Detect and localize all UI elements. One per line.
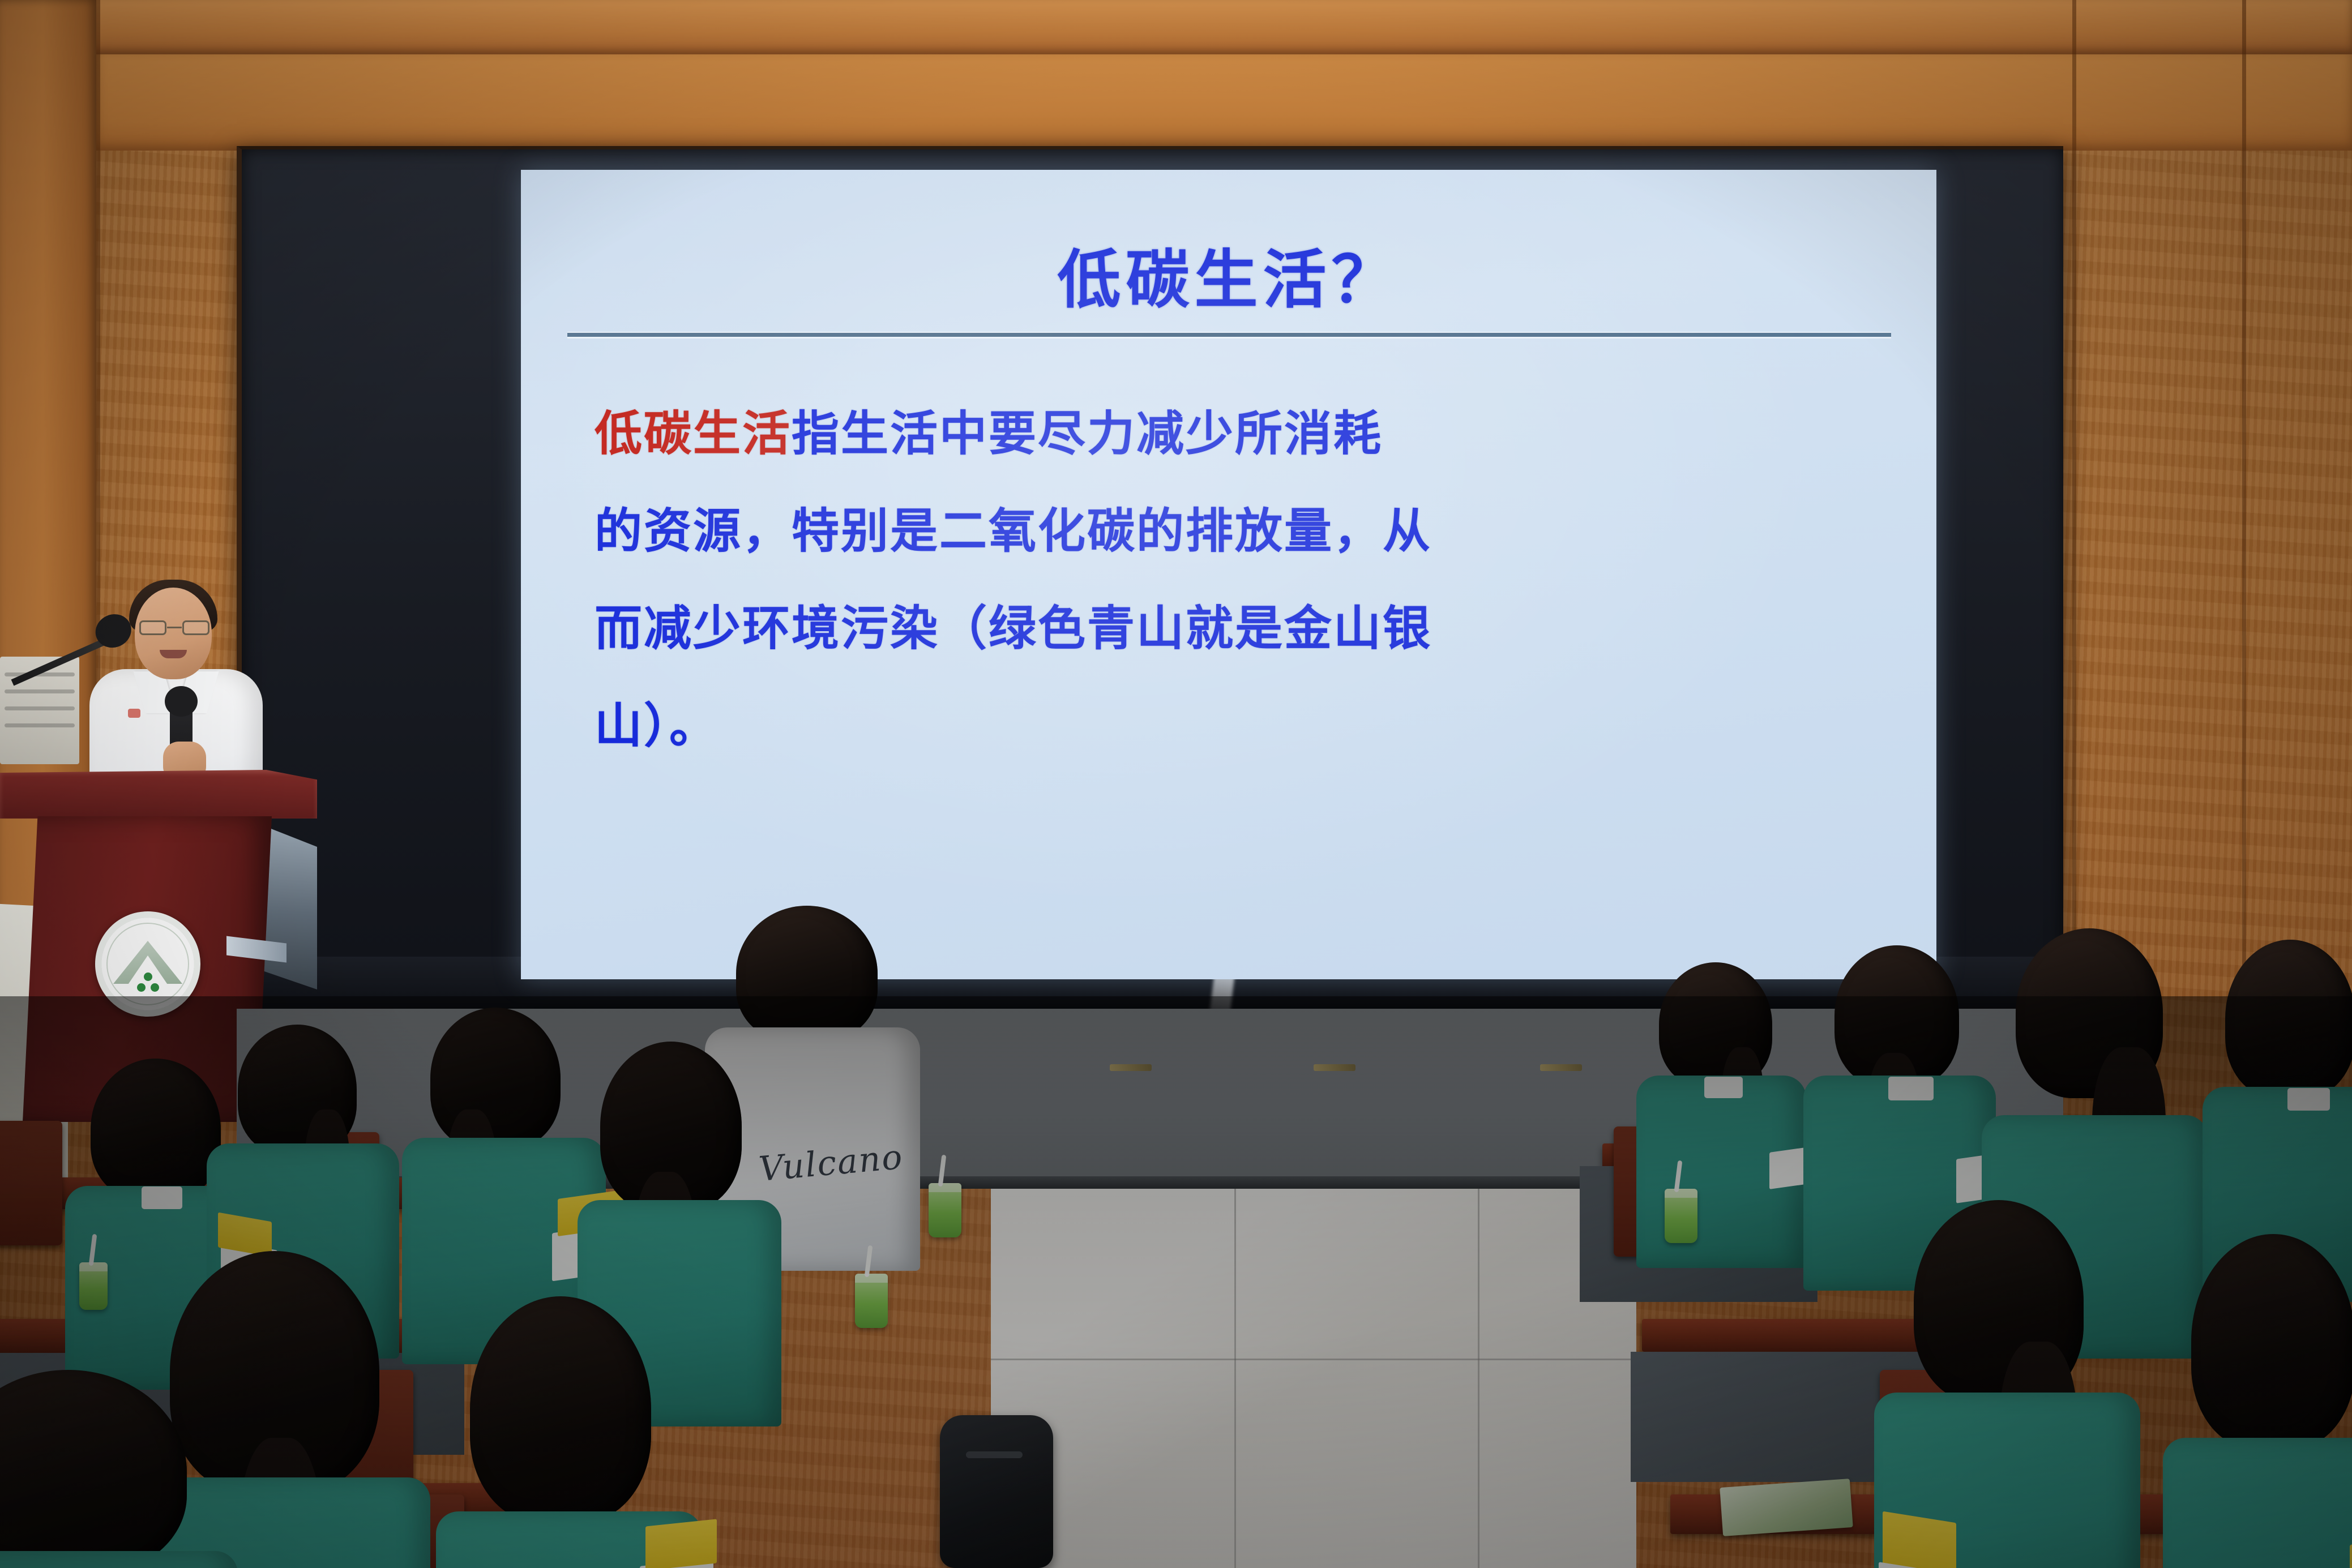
slide-divider-rule (567, 333, 1891, 337)
slide-line-rest: 山）。 (595, 697, 719, 753)
slide-line-rest: 而减少环境污染（绿色青山就是金山银 (595, 600, 1432, 656)
slide-highlight-term: 低碳生活 (595, 405, 792, 461)
drink-cup (929, 1183, 961, 1237)
drink-cup (1665, 1189, 1697, 1243)
slide-body-line: 而减少环境污染（绿色青山就是金山银 (595, 580, 1880, 677)
stage-floor-light (1314, 1064, 1355, 1071)
open-booklet (1720, 1479, 1853, 1536)
ceiling-beam (0, 0, 2352, 54)
slide-body-line: 的资源，特别是二氧化碳的排放量，从 (595, 482, 1880, 580)
projected-slide: 低碳生活？ 低碳生活指生活中要尽力减少所消耗 的资源，特别是二氧化碳的排放量，从… (521, 170, 1936, 979)
slide-body-line: 低碳生活指生活中要尽力减少所消耗 (595, 385, 1880, 482)
wall-seam (2242, 0, 2246, 1008)
school-crest-icon (95, 911, 200, 1017)
slide-body-text: 低碳生活指生活中要尽力减少所消耗 的资源，特别是二氧化碳的排放量，从 而减少环境… (595, 385, 1880, 774)
wall-header-band (96, 54, 2352, 151)
slide-body-line: 山）。 (595, 677, 1880, 774)
stage-floor-light (1110, 1064, 1152, 1071)
drink-cup (79, 1262, 108, 1310)
aisle-floor (991, 1189, 1636, 1568)
eyeglasses-icon (139, 620, 209, 635)
wall-seam (2072, 0, 2076, 1008)
shirt-logo (128, 709, 140, 718)
podium-top-surface (0, 770, 317, 819)
drink-cup (855, 1274, 888, 1328)
stage-floor-light (1540, 1064, 1582, 1071)
presenter-mouth (160, 650, 187, 658)
lecture-hall-photo: 低碳生活？ 低碳生活指生活中要尽力减少所消耗 的资源，特别是二氧化碳的排放量，从… (0, 0, 2352, 1568)
backpack (940, 1415, 1053, 1568)
chair-back (0, 1121, 62, 1245)
slide-line-rest: 指生活中要尽力减少所消耗 (792, 405, 1383, 461)
slide-title: 低碳生活？ (521, 229, 1936, 320)
slide-line-rest: 的资源，特别是二氧化碳的排放量，从 (595, 503, 1432, 559)
